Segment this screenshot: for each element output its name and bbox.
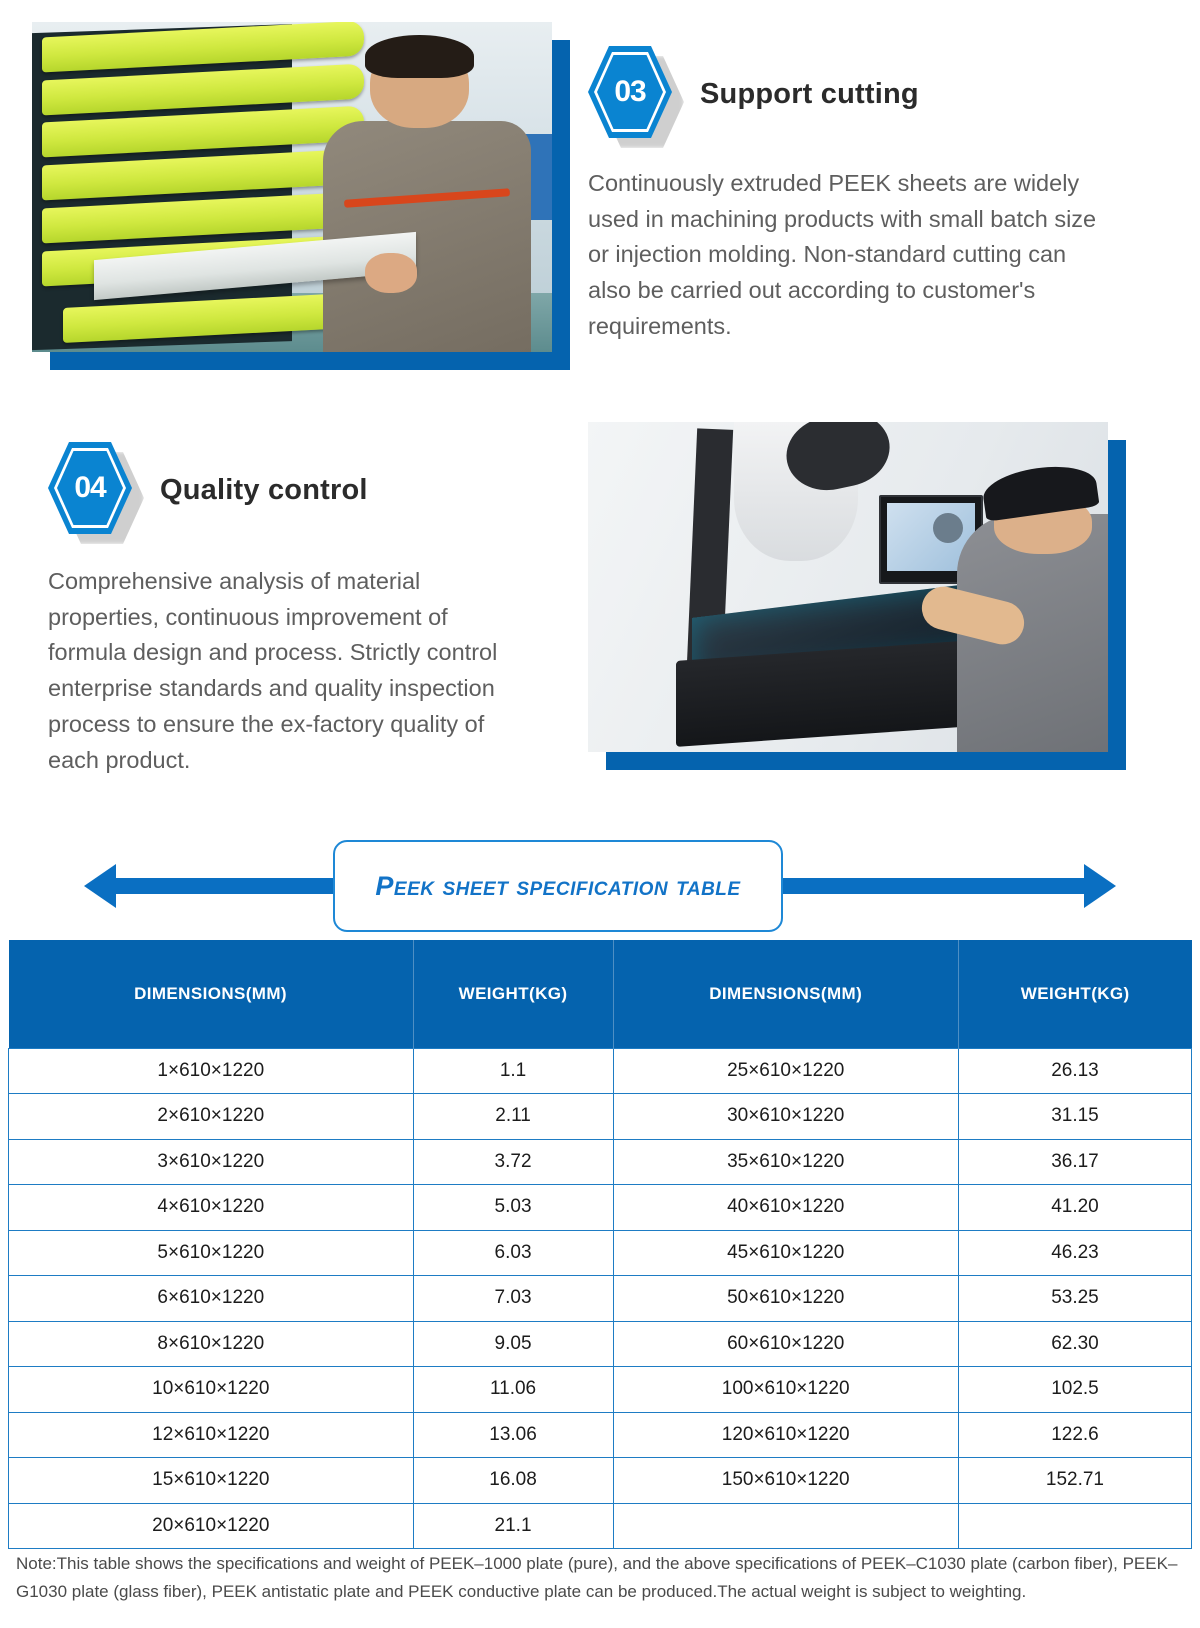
cell-weight-2: 122.6 — [958, 1412, 1191, 1458]
table-footnote: Note:This table shows the specifications… — [16, 1550, 1186, 1605]
cell-weight-1: 1.1 — [413, 1048, 613, 1094]
cell-weight-2: 41.20 — [958, 1185, 1191, 1231]
hexagon-badge-04: 04 — [48, 442, 136, 538]
section-title: Support cutting — [700, 78, 919, 111]
cell-weight-2: 46.23 — [958, 1230, 1191, 1276]
cell-dimensions-1: 6×610×1220 — [9, 1276, 414, 1322]
table-row: 4×610×1220 5.03 40×610×1220 41.20 — [9, 1185, 1192, 1231]
photo-screen-disc — [933, 513, 963, 543]
cell-dimensions-1: 8×610×1220 — [9, 1321, 414, 1367]
cell-weight-2: 26.13 — [958, 1048, 1191, 1094]
table-row: 20×610×1220 21.1 — [9, 1503, 1192, 1549]
cell-dimensions-2 — [613, 1503, 958, 1549]
banner-title-box: Peek sheet specification table — [333, 840, 783, 932]
cell-dimensions-2: 30×610×1220 — [613, 1094, 958, 1140]
arrow-right-head-icon — [1084, 864, 1116, 908]
table-row: 6×610×1220 7.03 50×610×1220 53.25 — [9, 1276, 1192, 1322]
column-header-weight-2: WEIGHT(KG) — [958, 940, 1191, 1048]
cell-dimensions-2: 100×610×1220 — [613, 1367, 958, 1413]
cell-dimensions-1: 15×610×1220 — [9, 1458, 414, 1504]
hexagon-badge-03: 03 — [588, 46, 676, 142]
section-number: 04 — [74, 473, 105, 503]
quality-control-photo-frame — [588, 422, 1108, 752]
table-header: DIMENSIONS(MM) WEIGHT(KG) DIMENSIONS(MM)… — [9, 940, 1192, 1048]
section-title: Quality control — [160, 474, 368, 507]
cell-weight-1: 16.08 — [413, 1458, 613, 1504]
column-header-dimensions-2: DIMENSIONS(MM) — [613, 940, 958, 1048]
section-number: 03 — [614, 77, 645, 107]
support-cutting-photo-frame — [32, 22, 552, 352]
table-header-row: DIMENSIONS(MM) WEIGHT(KG) DIMENSIONS(MM)… — [9, 940, 1192, 1048]
cell-weight-2: 152.71 — [958, 1458, 1191, 1504]
table-row: 12×610×1220 13.06 120×610×1220 122.6 — [9, 1412, 1192, 1458]
cell-dimensions-1: 4×610×1220 — [9, 1185, 414, 1231]
column-header-weight-1: WEIGHT(KG) — [413, 940, 613, 1048]
cell-weight-1: 11.06 — [413, 1367, 613, 1413]
spec-table-banner: Peek sheet specification table — [0, 840, 1200, 930]
section-body-text: Comprehensive analysis of material prope… — [48, 564, 526, 778]
cell-weight-2: 53.25 — [958, 1276, 1191, 1322]
section-body-text: Continuously extruded PEEK sheets are wi… — [588, 166, 1108, 345]
cell-weight-2: 102.5 — [958, 1367, 1191, 1413]
cell-dimensions-2: 40×610×1220 — [613, 1185, 958, 1231]
table-row: 10×610×1220 11.06 100×610×1220 102.5 — [9, 1367, 1192, 1413]
cell-weight-1: 3.72 — [413, 1139, 613, 1185]
cell-weight-1: 6.03 — [413, 1230, 613, 1276]
section-04: 04 Quality control Comprehensive analysi… — [48, 442, 588, 778]
column-header-dimensions-1: DIMENSIONS(MM) — [9, 940, 414, 1048]
cell-dimensions-1: 3×610×1220 — [9, 1139, 414, 1185]
photo-support-cutting — [32, 22, 552, 352]
section-03-header: 03 Support cutting — [588, 46, 1168, 142]
table-row: 5×610×1220 6.03 45×610×1220 46.23 — [9, 1230, 1192, 1276]
cell-weight-2 — [958, 1503, 1191, 1549]
cell-dimensions-1: 10×610×1220 — [9, 1367, 414, 1413]
table-row: 1×610×1220 1.1 25×610×1220 26.13 — [9, 1048, 1192, 1094]
table-body: 1×610×1220 1.1 25×610×1220 26.13 2×610×1… — [9, 1048, 1192, 1549]
photo-worker-hand — [365, 253, 417, 293]
cell-weight-1: 2.11 — [413, 1094, 613, 1140]
cell-dimensions-2: 60×610×1220 — [613, 1321, 958, 1367]
cell-dimensions-2: 35×610×1220 — [613, 1139, 958, 1185]
table-row: 8×610×1220 9.05 60×610×1220 62.30 — [9, 1321, 1192, 1367]
cell-weight-1: 5.03 — [413, 1185, 613, 1231]
photo-quality-control — [588, 422, 1108, 752]
cell-dimensions-2: 45×610×1220 — [613, 1230, 958, 1276]
cell-dimensions-1: 5×610×1220 — [9, 1230, 414, 1276]
cell-dimensions-1: 1×610×1220 — [9, 1048, 414, 1094]
cell-weight-1: 13.06 — [413, 1412, 613, 1458]
cell-weight-2: 36.17 — [958, 1139, 1191, 1185]
table-row: 3×610×1220 3.72 35×610×1220 36.17 — [9, 1139, 1192, 1185]
table-row: 2×610×1220 2.11 30×610×1220 31.15 — [9, 1094, 1192, 1140]
cell-dimensions-1: 12×610×1220 — [9, 1412, 414, 1458]
photo-worker-hair — [365, 35, 474, 78]
cell-dimensions-2: 25×610×1220 — [613, 1048, 958, 1094]
cell-dimensions-2: 120×610×1220 — [613, 1412, 958, 1458]
table-row: 15×610×1220 16.08 150×610×1220 152.71 — [9, 1458, 1192, 1504]
cell-weight-1: 21.1 — [413, 1503, 613, 1549]
cell-weight-2: 62.30 — [958, 1321, 1191, 1367]
cell-dimensions-2: 150×610×1220 — [613, 1458, 958, 1504]
cell-dimensions-1: 2×610×1220 — [9, 1094, 414, 1140]
peek-sheet-specification-table: DIMENSIONS(MM) WEIGHT(KG) DIMENSIONS(MM)… — [8, 940, 1192, 1549]
cell-weight-2: 31.15 — [958, 1094, 1191, 1140]
banner-title: Peek sheet specification table — [375, 871, 740, 902]
cell-dimensions-1: 20×610×1220 — [9, 1503, 414, 1549]
section-03: 03 Support cutting Continuously extruded… — [588, 46, 1168, 345]
section-04-header: 04 Quality control — [48, 442, 588, 538]
cell-weight-1: 7.03 — [413, 1276, 613, 1322]
cell-weight-1: 9.05 — [413, 1321, 613, 1367]
cell-dimensions-2: 50×610×1220 — [613, 1276, 958, 1322]
